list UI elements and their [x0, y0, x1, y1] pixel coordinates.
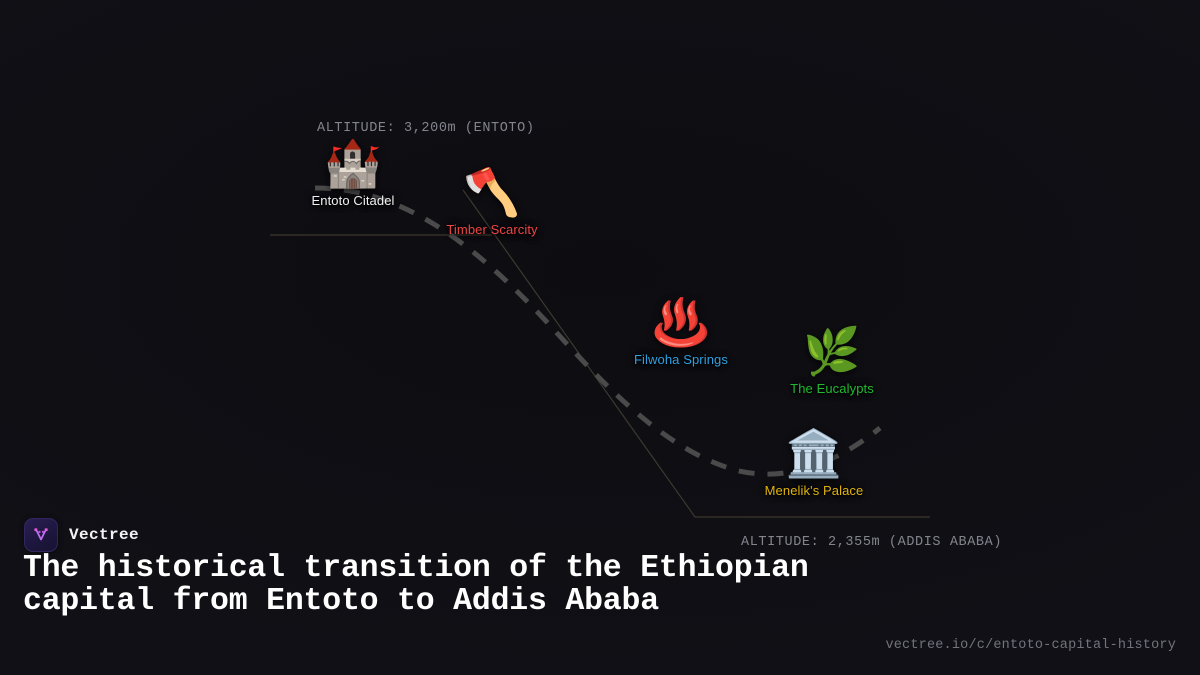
node-entoto-citadel[interactable]: 🏰 Entoto Citadel [311, 140, 394, 208]
node-meneliks-palace[interactable]: 🏛️ Menelik's Palace [765, 430, 864, 498]
axe-icon: 🪓 [463, 169, 520, 215]
altitude-caption-entoto: ALTITUDE: 3,200m (ENTOTO) [317, 121, 535, 136]
vectree-v-tree-logo-icon [24, 518, 58, 552]
node-label-the-eucalypts: The Eucalypts [790, 381, 874, 396]
classical-building-icon: 🏛️ [785, 430, 842, 476]
node-label-timber-scarcity: Timber Scarcity [446, 222, 537, 237]
altitude-caption-addis-ababa: ALTITUDE: 2,355m (ADDIS ABABA) [741, 535, 1002, 550]
node-label-filwoha-springs: Filwoha Springs [634, 352, 728, 367]
page-title: The historical transition of the Ethiopi… [23, 553, 868, 618]
node-timber-scarcity[interactable]: 🪓 Timber Scarcity [446, 169, 537, 237]
connector-layer [0, 0, 1200, 675]
brand-row: Vectree [24, 518, 139, 552]
node-label-meneliks-palace: Menelik's Palace [765, 483, 864, 498]
herb-leaf-icon: 🌿 [803, 328, 860, 374]
node-filwoha-springs[interactable]: ♨️ Filwoha Springs [634, 299, 728, 367]
source-url[interactable]: vectree.io/c/entoto-capital-history [885, 638, 1176, 653]
node-the-eucalypts[interactable]: 🌿 The Eucalypts [790, 328, 874, 396]
castle-icon: 🏰 [324, 140, 381, 186]
node-label-entoto-citadel: Entoto Citadel [311, 193, 394, 208]
brand-name: Vectree [69, 526, 139, 544]
infographic-canvas: ALTITUDE: 3,200m (ENTOTO) ALTITUDE: 2,35… [0, 0, 1200, 675]
footer-bar: Vectree The historical transition of the… [0, 505, 1200, 675]
hot-springs-icon: ♨️ [652, 299, 709, 345]
